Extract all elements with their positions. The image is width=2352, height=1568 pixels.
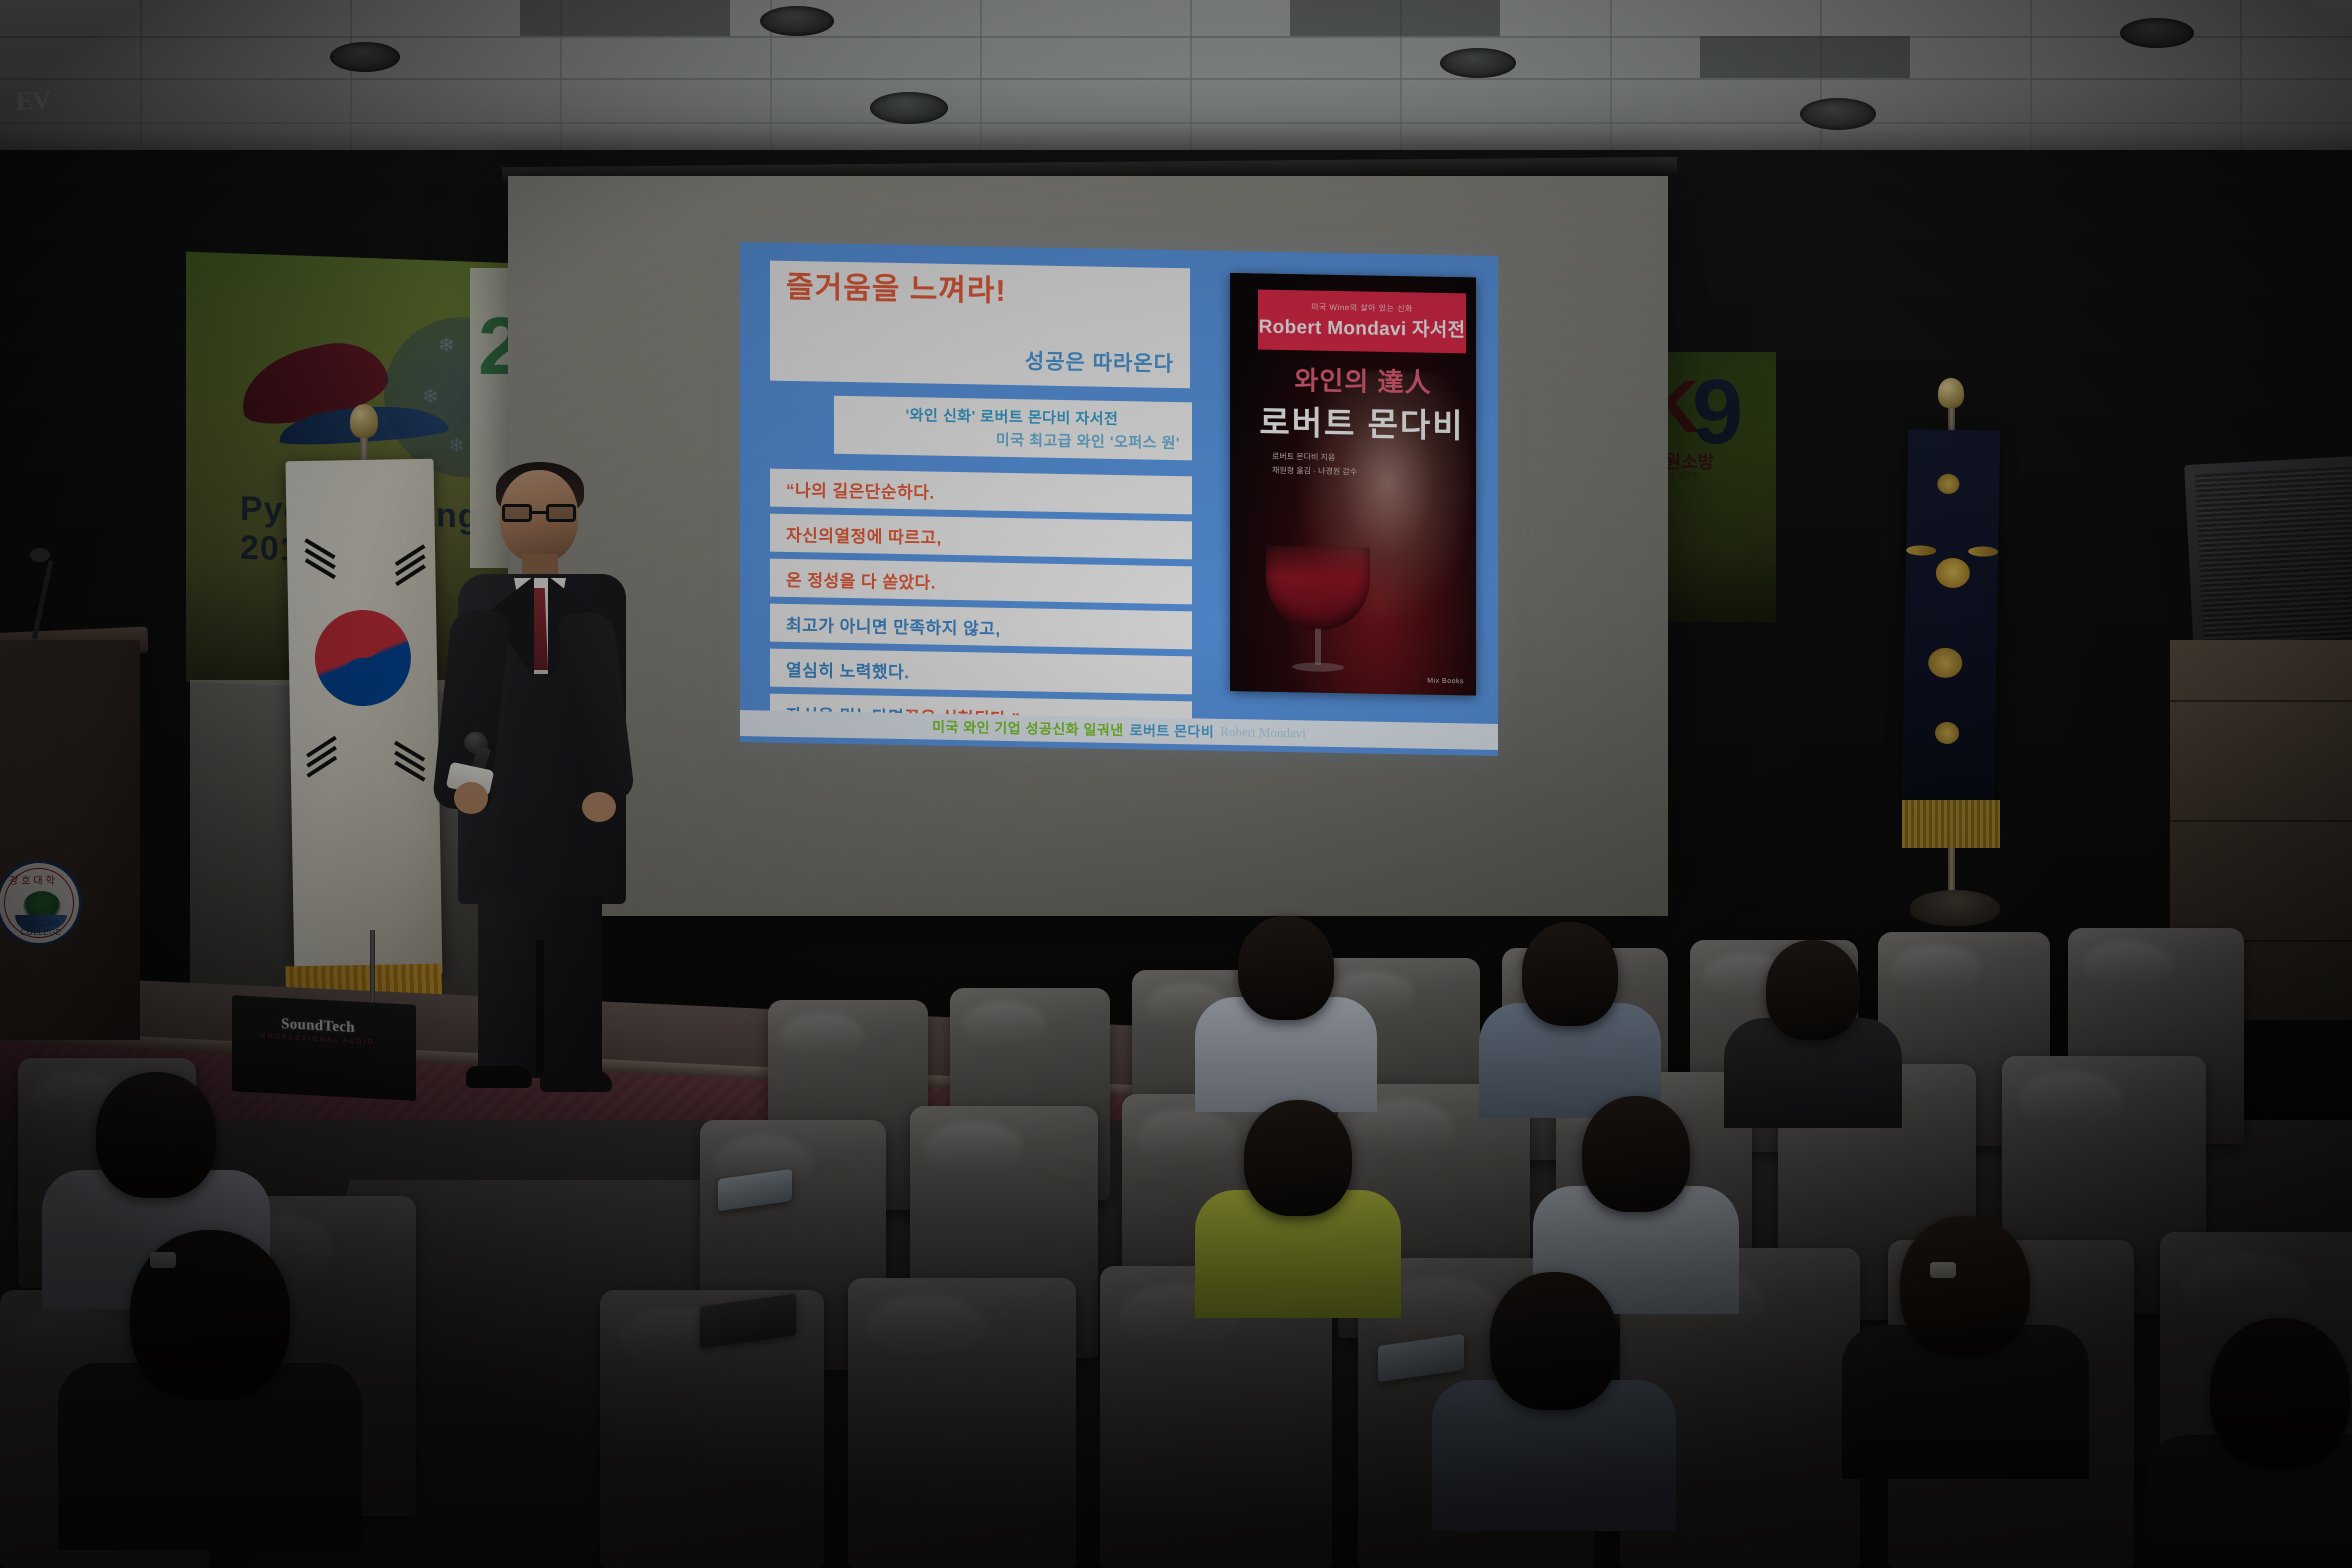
seal-english-text: KANGHO COLLEGE	[1, 919, 81, 937]
presenter-shoe-left	[466, 1066, 532, 1088]
seat-highlight	[866, 1295, 985, 1359]
bullet-prefix: 열심히 노력했다.	[786, 655, 909, 682]
audience-member-head	[1490, 1272, 1618, 1410]
hair-clip	[150, 1252, 176, 1268]
taegeuk-symbol	[314, 609, 412, 707]
seat-highlight	[963, 1001, 1046, 1048]
seat-highlight	[1892, 945, 1981, 992]
bullet-prefix: 최고가 아니면 만족하지 않고,	[786, 610, 1001, 639]
audience-member-head	[1238, 916, 1334, 1020]
book-credits: 로버트 몬다비 지음 채원형 옮김 · 나경원 감수	[1272, 450, 1357, 480]
slide-footer-blue-text: 로버트 몬다비	[1130, 720, 1215, 742]
book-hanja-title: 와인의 達人	[1264, 360, 1462, 401]
book-credit-line-2: 채원형 옮김 · 나경원 감수	[1272, 464, 1357, 480]
audience-member-head	[96, 1072, 216, 1198]
book-band-main-text: Robert Mondavi 자서전	[1259, 312, 1466, 343]
audience-member-head	[1900, 1216, 2030, 1356]
presenter-glasses	[502, 504, 576, 522]
lectern-podium	[0, 640, 140, 1040]
presenter-hand-left	[582, 792, 616, 822]
slide-bullet-line: “나의 길은 단순하다.	[770, 469, 1192, 515]
slide-title-box: 즐거움을 느껴라! 성공은 따라온다	[770, 261, 1190, 389]
bullet-prefix: “나의 길은	[786, 475, 865, 501]
book-main-title: 로버트 몬다비	[1258, 396, 1466, 448]
slide-bullet-list: “나의 길은 단순하다.자신의 열정에 따르고,온 정성을 다 쏟았다.최고가 …	[770, 469, 1192, 747]
seat-highlight	[781, 1013, 864, 1059]
presentation-slide: 즐거움을 느껴라! 성공은 따라온다 '와인 신화' 로버트 몬다비 자서전 미…	[740, 242, 1498, 756]
book-cover-image: 미국 Wine의 살아 있는 신화 Robert Mondavi 자서전 와인의…	[1230, 273, 1476, 696]
podium-microphone-head	[30, 548, 50, 562]
slide-source-box: '와인 신화' 로버트 몬다비 자서전 미국 최고급 와인 '오퍼스 원'	[834, 396, 1192, 461]
seat-highlight	[925, 1121, 1023, 1176]
korean-national-flag	[285, 459, 442, 982]
bullet-suffix: 에 따르고,	[867, 522, 942, 548]
bullet-prefix: 온 정성을 다 쏟았다.	[786, 565, 936, 593]
presenter-shoe-right	[540, 1070, 612, 1092]
slide-footer-green-text: 미국 와인 기업 성공신화 일궈낸	[932, 717, 1124, 741]
slide-source-line-2: 미국 최고급 와인 '오퍼스 원'	[844, 426, 1180, 453]
slide-bullet-line: 온 정성을 다 쏟았다.	[770, 559, 1192, 605]
seal-korean-text: 강호대학	[9, 872, 58, 887]
audience-member-head	[2210, 1318, 2350, 1468]
wine-glass-graphic	[1266, 546, 1370, 680]
seat-highlight	[1137, 1109, 1236, 1165]
slide-bullet-line: 자신의 열정에 따르고,	[770, 514, 1192, 560]
ev-brand-logo: EV	[15, 85, 51, 117]
seat-highlight	[2180, 1252, 2310, 1326]
presenter-person	[452, 470, 632, 1090]
bullet-prefix: 자신의	[786, 520, 834, 546]
book-credit-line-1: 로버트 몬다비 지음	[1272, 450, 1357, 466]
audience-member-head	[1244, 1100, 1352, 1216]
slide-title: 즐거움을 느껴라!	[786, 273, 1174, 310]
slide-bullet-line: 열심히 노력했다.	[770, 649, 1192, 695]
hair-clip	[1930, 1262, 1956, 1278]
projection-screen: 즐거움을 느껴라! 성공은 따라온다 '와인 신화' 로버트 몬다비 자서전 미…	[508, 176, 1668, 916]
college-emblem-seal: 강호대학 KANGHO COLLEGE	[0, 860, 82, 946]
flag-finial-ornament	[350, 404, 378, 438]
unit-flag-fringe	[1902, 800, 2000, 848]
slide-bullet-line: 최고가 아니면 만족하지 않고,	[770, 604, 1192, 650]
stage-monitor-speaker	[232, 995, 416, 1101]
book-cover-band: 미국 Wine의 살아 있는 신화 Robert Mondavi 자서전	[1258, 290, 1466, 354]
unit-flag-emblem	[1919, 539, 1984, 604]
seat-highlight	[17, 1307, 126, 1368]
unit-flag-stand	[1910, 890, 2000, 926]
bullet-highlight: 단순하다.	[865, 477, 935, 503]
presenter-hand-right	[454, 782, 488, 814]
book-publisher: Mix Books	[1427, 678, 1464, 686]
audience-member-head	[1582, 1096, 1690, 1212]
auditorium-seat	[848, 1278, 1076, 1568]
auditorium-photo-scene: ❄ ❄ ❄ ❄ ❄ ❄ ❄ PyeongChang 2018 제23회 동계올림…	[0, 0, 2352, 1568]
unit-ceremonial-flag	[1902, 429, 2001, 811]
unit-flag-finial	[1938, 378, 1964, 408]
slide-footer-english-text: Robert Mondavi	[1220, 724, 1306, 742]
audience-member-head	[1522, 922, 1618, 1026]
slide-subtitle: 성공은 따라온다	[786, 341, 1174, 378]
seat-highlight	[2018, 1071, 2124, 1128]
audience-member-head	[1766, 940, 1860, 1040]
bullet-highlight: 열정	[834, 521, 866, 547]
seat-highlight	[2082, 941, 2174, 989]
